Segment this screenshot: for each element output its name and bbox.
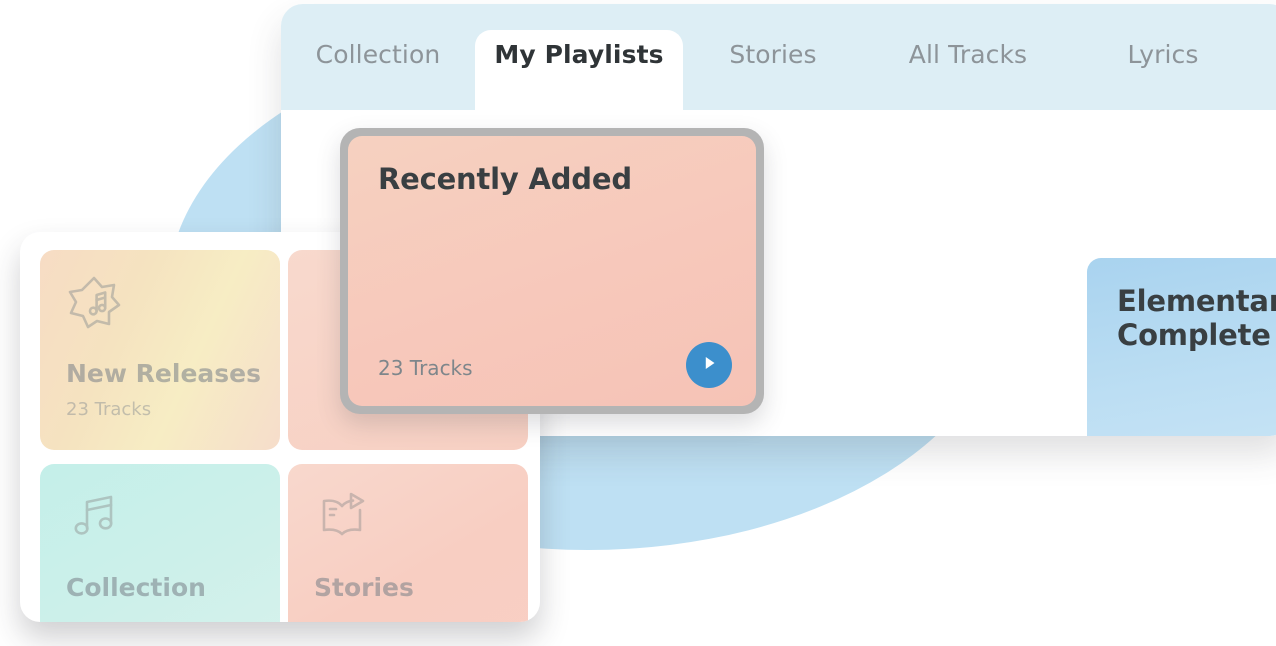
- tab-stories-label: Stories: [729, 40, 816, 75]
- playlist-card-recently-added-selected[interactable]: Recently Added 23 Tracks: [340, 128, 764, 414]
- tab-stories[interactable]: Stories: [683, 4, 863, 110]
- tab-my-playlists-label: My Playlists: [494, 40, 663, 75]
- playlist-card-elementary-suite[interactable]: Elementary Suite Complete 23 Tracks: [1087, 258, 1276, 436]
- category-card-title: Collection: [66, 573, 206, 602]
- tab-collection[interactable]: Collection: [281, 4, 475, 110]
- playlist-card-title: Recently Added: [378, 162, 726, 196]
- tab-collection-label: Collection: [316, 40, 441, 75]
- category-card-stories[interactable]: Stories: [288, 464, 528, 622]
- tab-all-tracks-label: All Tracks: [909, 40, 1027, 75]
- tab-my-playlists[interactable]: My Playlists: [475, 4, 683, 110]
- tab-all-tracks[interactable]: All Tracks: [863, 4, 1073, 110]
- category-card-title: New Releases: [66, 359, 261, 388]
- new-releases-badge-icon: [66, 274, 122, 330]
- app-screenshot: Collection My Playlists Stories All Trac…: [0, 0, 1276, 646]
- category-card-track-count: 23 Tracks: [66, 399, 151, 420]
- playlist-card-track-count: 23 Tracks: [378, 356, 473, 380]
- tab-lyrics[interactable]: Lyrics: [1073, 4, 1253, 110]
- play-icon: [698, 352, 720, 378]
- playlist-card-title: Elementary Suite Complete: [1117, 284, 1276, 352]
- category-card-new-releases[interactable]: New Releases 23 Tracks: [40, 250, 280, 450]
- play-button[interactable]: [686, 342, 732, 388]
- book-play-icon: [314, 488, 370, 544]
- playlist-card-recently-added[interactable]: Recently Added 23 Tracks: [348, 136, 756, 406]
- category-card-collection[interactable]: Collection: [40, 464, 280, 622]
- music-note-icon: [66, 488, 122, 544]
- category-card-title: Stories: [314, 573, 414, 602]
- tab-bar: Collection My Playlists Stories All Trac…: [281, 4, 1276, 110]
- tab-lyrics-label: Lyrics: [1127, 40, 1198, 75]
